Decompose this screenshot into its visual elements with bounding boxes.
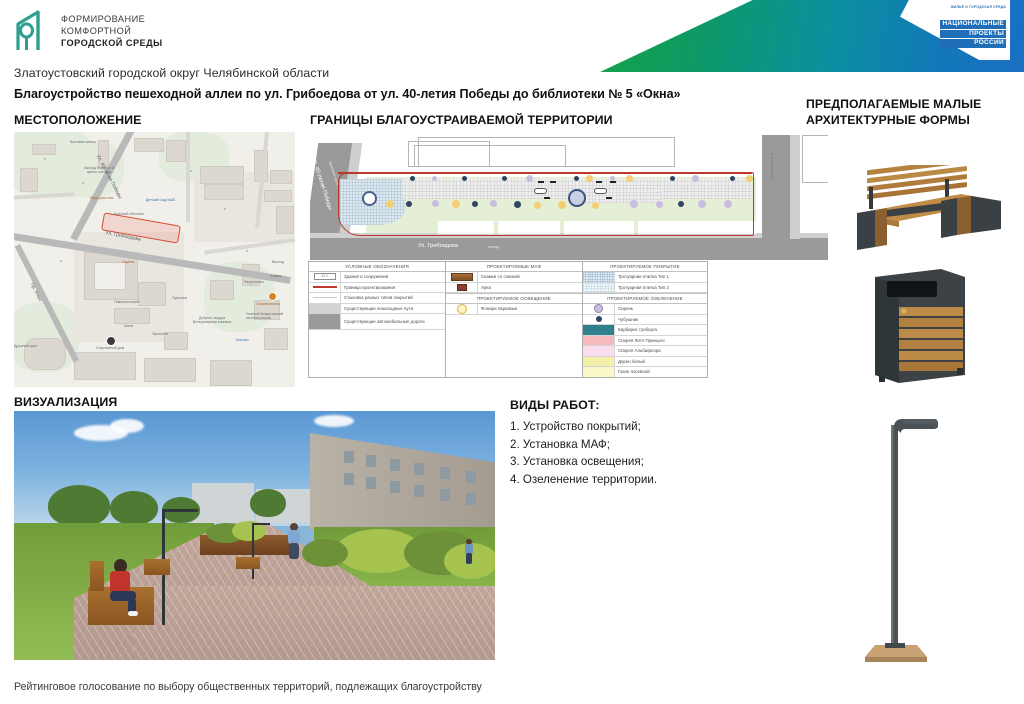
plan-bin [538,181,544,183]
brand-text: ФОРМИРОВАНИЕ КОМФОРТНОЙ ГОРОДСКОЙ СРЕДЫ [61,14,163,49]
plan-tree [656,201,663,208]
legend-row: Газон посевной [583,367,707,377]
plan-tree [432,176,437,181]
legend-label: Барбарис тунберга [615,327,657,332]
legend-row: Граница проектирования [309,283,445,294]
legend-header: УСЛОВНЫЕ ОБОЗНАЧЕНИЯ [309,262,445,272]
legend-header: ПРОЕКТИРУЕМОЕ ОЗЕЛЕНЕНИЕ [583,293,707,304]
np-line-2: ПРОЕКТЫ [940,30,1006,39]
brand-line-1: ФОРМИРОВАНИЕ [61,14,163,26]
plan-tree [410,176,415,181]
plan-bin [610,181,616,183]
plan-bin [550,181,556,183]
footer-note: Рейтинговое голосование по выбору общест… [14,681,482,693]
legend-row: Фонари парковые [446,304,582,315]
map-poi-label: Спортивный дом [96,346,124,350]
poster-root: ЖИЛЬЁ И ГОРОДСКАЯ СРЕДА НАЦИОНАЛЬНЫЕ ПРО… [0,0,1024,704]
plan-tree [514,201,521,208]
legend-row: Дерен белый [583,357,707,368]
legend-swatch-mock-orange [583,315,615,325]
plan-tree [462,176,467,181]
legend-swatch-lawn [583,367,615,377]
plan-tree [558,201,566,209]
plan-tree [502,176,507,181]
visualization-render[interactable] [14,411,495,660]
map-poi-label: Гимназический [114,300,139,304]
legend-swatch-road [309,314,341,329]
plan-note-passage: проезд [488,245,499,249]
plan-tree [386,200,394,208]
map-poi-label: Каскад Подарки и цветы оптовая [80,166,118,174]
plan-tree [678,201,684,207]
legend-row: Барбарис тунберга [583,325,707,336]
map-poi-label: Уютный Кондитерский им.Московская [246,312,288,320]
brand-line-2: КОМФОРТНОЙ [61,26,163,38]
legend-label: Граница проектирования [341,285,395,290]
plan-plaza-node [362,191,377,206]
plan-bin [544,197,550,199]
legend-swatch-pave-type-2 [583,283,615,293]
location-map[interactable]: Ул. 40-летия Победы Ул. Грибоедова Пр. М… [14,132,295,387]
map-poi-label: Восход [272,260,284,264]
map-poi-label: Детский сад №88 [146,198,175,202]
brand-line-3: ГОРОДСКОЙ СРЕДЫ [61,38,163,50]
legend-header: ПРОЕКТИРУЕМОЕ ОСВЕЩЕНИЕ [446,293,582,304]
litter-bin-photo [865,263,975,385]
map-poi-label: Красный Абсолют [114,212,144,216]
legend-row: Скамья со спинкой [446,272,582,283]
render-person-sitting [106,559,134,613]
legend-label: Сирень [615,306,633,311]
page-title: Благоустройство пешеходной аллеи по ул. … [14,87,681,101]
plan-tree [574,176,579,181]
legend-label: Существующие автомобильные дороги [341,319,440,324]
legend-swatch-building: 12.2 [309,272,341,282]
legend-row: Спирея Литл Принцесс [583,336,707,347]
works-list: 1. Устройство покрытий; 2. Установка МАФ… [510,418,657,488]
legend-label: Тротуарная плитка Тип 2 [615,285,669,290]
plan-bench [594,188,607,194]
plan-tree [432,200,439,207]
plan-tree [746,175,753,182]
render-bench [236,557,260,569]
legend-row: Чубушник [583,315,707,326]
np-line-1: НАЦИОНАЛЬНЫЕ [940,20,1006,29]
plan-tree [534,202,541,209]
plan-tree [490,200,497,207]
legend-header: ПРОЕКТИРУЕМЫЕ МАФ [446,262,582,272]
park-lamp-photo [855,405,1005,665]
plan-bin [596,181,602,183]
brand-logo: ФОРМИРОВАНИЕ КОМФОРТНОЙ ГОРОДСКОЙ СРЕДЫ [14,10,163,54]
legend-row: Существующие пешеходные пути [309,304,445,315]
plan-tree [626,175,633,182]
site-plan-drawing[interactable]: Ул. 40-летия Победы проезжая часть Ул. Г… [310,135,828,260]
legend-row: Спирея Альбифлора [583,346,707,357]
render-person-walking [286,523,302,561]
legend-swatch-lamp [446,304,478,314]
plan-tree [452,200,460,208]
work-item-2: 2. Установка МАФ; [510,436,657,454]
legend-label: Стыковка разных типов покрытий [341,295,413,300]
map-poi-label: Экология [152,332,168,336]
legend-building-box: 12.2 [314,273,336,280]
legend-label: Чубушник [615,317,638,322]
section-label-location: МЕСТОПОЛОЖЕНИЕ [14,113,142,127]
plan-legend-table: УСЛОВНЫЕ ОБОЗНАЧЕНИЯ 12.2 Здания и соору… [308,261,708,378]
section-label-works: ВИДЫ РАБОТ: [510,398,600,412]
header-banner: ЖИЛЬЁ И ГОРОДСКАЯ СРЕДА НАЦИОНАЛЬНЫЕ ПРО… [600,0,1024,72]
render-lamp-post [252,523,254,579]
legend-row: 12.2 Здания и сооружения [309,272,445,283]
legend-label: Урна [478,285,491,290]
legend-swatch-bin [446,283,478,293]
legend-column-maf: ПРОЕКТИРУЕМЫЕ МАФ Скамья со спинкой Урна… [446,262,583,377]
plan-tree [692,175,699,182]
map-poi-label: Стоматология [256,302,280,306]
legend-label: Спирея Альбифлора [615,348,661,353]
legend-swatch-boundary [309,283,341,293]
legend-swatch-barberry [583,325,615,335]
national-projects-logo: ЖИЛЬЁ И ГОРОДСКАЯ СРЕДА НАЦИОНАЛЬНЫЕ ПРО… [904,4,1008,56]
legend-label: Спирея Литл Принцесс [615,338,665,343]
legend-row: Тротуарная плитка Тип 1 [583,272,707,283]
map-poi-label: Пушкина [172,296,187,300]
map-poi-label: Альфа [270,274,281,278]
legend-swatch-spiraea-albiflora [583,346,615,356]
map-marker-poi [268,292,277,301]
bench-photo [845,165,1015,260]
municipality-subtitle: Златоустовский городской округ Челябинск… [14,66,329,80]
plan-note-library: Библиотека № 5 [770,153,774,179]
plan-tree [670,176,675,181]
legend-row: Тротуарная плитка Тип 2 [583,283,707,294]
legend-row: Стыковка разных типов покрытий [309,293,445,304]
plan-tree [630,200,638,208]
np-tagline: ЖИЛЬЁ И ГОРОДСКАЯ СРЕДА [951,6,1006,9]
plan-tree [730,176,735,181]
map-poi-label: Игры для глаз [90,196,114,200]
plan-bench [534,188,547,194]
legend-label: Скамья со спинкой [478,274,520,279]
legend-row: Урна [446,283,582,294]
plan-tree [406,201,412,207]
plan-tree [698,200,706,208]
legend-swatch-spiraea-little-princess [583,336,615,346]
section-label-borders: ГРАНИЦЫ БЛАГОУСТРАИВАЕМОЙ ТЕРРИТОРИИ [310,113,613,127]
legend-label: Фонари парковые [478,306,517,311]
legend-swatch-footpath [309,304,341,314]
work-item-3: 3. Установка освещения; [510,453,657,471]
map-poi-label: Бытовая химия [70,140,96,144]
np-line-3: РОССИИ [940,39,1006,48]
work-item-4: 4. Озеленение территории. [510,471,657,489]
map-poi-label: Дружный дом [14,344,37,348]
render-bench [144,559,170,575]
plan-tree [472,201,478,207]
plan-tree [586,175,593,182]
map-poi-label: Контакт [236,338,249,342]
legend-header: ПРОЕКТИРУЕМОЕ ПОКРЫТИЕ [583,262,707,272]
legend-swatch-dogwood [583,357,615,367]
render-person-far [464,539,474,565]
maf-label-line-1: ПРЕДПОЛАГАЕМЫЕ МАЛЫЕ [806,96,981,112]
maf-label-line-2: АРХИТЕКТУРНЫЕ ФОРМЫ [806,112,981,128]
plan-bin [606,197,612,199]
map-poi-label: Сирень [122,260,134,264]
legend-swatch-lilac [583,304,615,314]
legend-label: Тротуарная плитка Тип 1 [615,274,669,279]
map-poi-label: Добрые сердца Ветеринарная клиника [190,316,234,324]
np-wordmark: НАЦИОНАЛЬНЫЕ ПРОЕКТЫ РОССИИ [940,20,1006,49]
legend-label: Здания и сооружения [341,274,388,279]
plan-tree [526,175,533,182]
legend-label: Дерен белый [615,359,645,364]
legend-swatch-joint [309,293,341,303]
plan-plaza-node [568,189,586,207]
plan-tree [724,200,732,208]
legend-column-surfacing-greening: ПРОЕКТИРУЕМОЕ ПОКРЫТИЕ Тротуарная плитка… [583,262,707,377]
legend-label: Существующие пешеходные пути [341,306,413,311]
legend-row: Существующие автомобильные дороги [309,314,445,330]
section-label-maf: ПРЕДПОЛАГАЕМЫЕ МАЛЫЕ АРХИТЕКТУРНЫЕ ФОРМЫ [806,96,981,128]
legend-column-symbols: УСЛОВНЫЕ ОБОЗНАЧЕНИЯ 12.2 Здания и соору… [309,262,446,377]
section-label-visualization: ВИЗУАЛИЗАЦИЯ [14,395,117,409]
legend-row: Сирень [583,304,707,315]
plan-tree [592,202,599,209]
legend-label: Газон посевной [615,369,650,374]
map-poi-label: Ферропласт [244,280,264,284]
plan-street-griboedova: Ул. Грибоедова [418,243,458,249]
work-item-1: 1. Устройство покрытий; [510,418,657,436]
map-poi-label: Мини [124,324,133,328]
legend-swatch-pave-type-1 [583,272,615,282]
map-marker-selected [106,336,116,346]
legend-swatch-bench [446,272,478,282]
house-with-person-icon [14,10,52,54]
